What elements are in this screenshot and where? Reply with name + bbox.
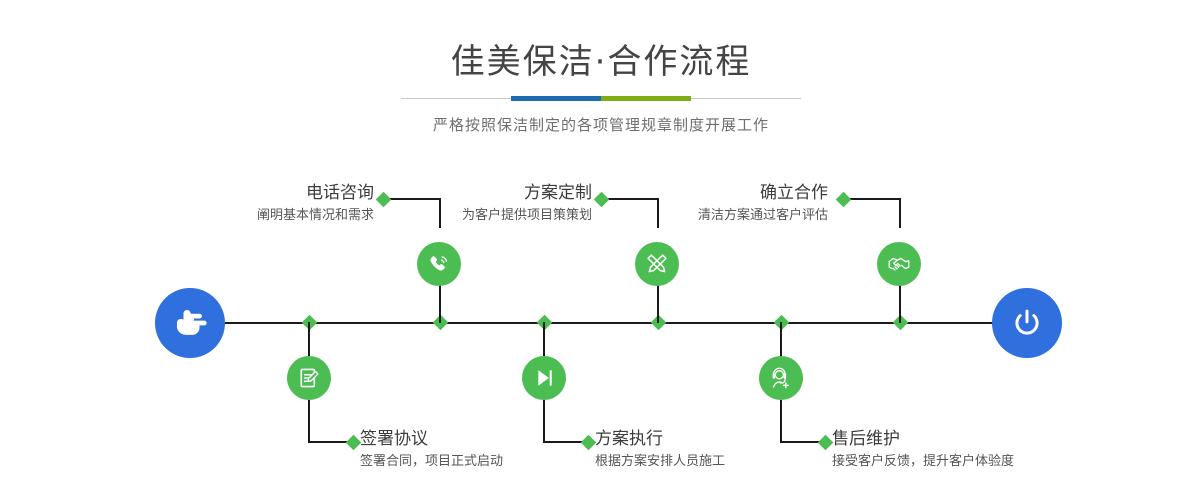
flow-step-title-6: 售后维护 — [832, 428, 1122, 450]
flow-label-marker-2 — [346, 435, 362, 451]
flow-connector-stem-6 — [780, 400, 782, 443]
page-header: 佳美保洁·合作流程 严格按照保洁制定的各项管理规章制度开展工作 — [0, 0, 1202, 135]
page-subtitle: 严格按照保洁制定的各项管理规章制度开展工作 — [0, 114, 1202, 135]
flow-step-label-3: 方案定制 为客户提供项目策策划 — [348, 182, 592, 226]
customer-support-icon — [768, 365, 794, 391]
flow-step-label-2: 签署协议 签署合同，项目正式启动 — [360, 428, 610, 472]
flow-connector-horizontal-5 — [847, 198, 901, 200]
flow-step-title-5: 确立合作 — [592, 182, 828, 204]
page-title: 佳美保洁·合作流程 — [0, 40, 1202, 84]
document-sign-icon — [296, 365, 322, 391]
flow-connector-vertical-2 — [308, 322, 310, 358]
flow-step-desc-6: 接受客户反馈，提升客户体验度 — [832, 452, 1122, 472]
power-icon — [1008, 304, 1046, 342]
title-divider — [401, 96, 801, 102]
flow-step-label-5: 确立合作 清洁方案通过客户评估 — [592, 182, 828, 226]
flow-step-icon-badge-2[interactable] — [287, 356, 331, 400]
flow-step-icon-badge-3[interactable] — [635, 242, 679, 286]
pencil-edit-icon — [644, 251, 670, 277]
flow-step-label-1: 电话咨询 阐明基本情况和需求 — [128, 182, 374, 226]
process-flow-diagram: 电话咨询 阐明基本情况和需求 签署协议 — [0, 160, 1202, 502]
flow-step-desc-3: 为客户提供项目策策划 — [348, 206, 592, 226]
timeline-axis — [160, 322, 1042, 324]
flow-step-title-3: 方案定制 — [348, 182, 592, 204]
flow-step-title-1: 电话咨询 — [128, 182, 374, 204]
pointing-hand-icon — [171, 304, 209, 342]
flow-step-title-4: 方案执行 — [595, 428, 845, 450]
flow-connector-vertical-6 — [780, 322, 782, 358]
flow-step-icon-badge-4[interactable] — [522, 356, 566, 400]
flow-connector-stem-2 — [308, 400, 310, 443]
flow-step-desc-1: 阐明基本情况和需求 — [128, 206, 374, 226]
phone-call-icon — [426, 251, 452, 277]
flow-step-label-6: 售后维护 接受客户反馈，提升客户体验度 — [832, 428, 1122, 472]
flow-connector-vertical-4 — [543, 322, 545, 358]
flow-connector-stem-4 — [543, 400, 545, 443]
flow-end-badge — [992, 288, 1062, 358]
divider-segment-green — [601, 96, 691, 101]
flow-step-desc-5: 清洁方案通过客户评估 — [592, 206, 828, 226]
flow-step-desc-2: 签署合同，项目正式启动 — [360, 452, 610, 472]
flow-step-title-2: 签署协议 — [360, 428, 610, 450]
flow-step-icon-badge-6[interactable] — [759, 356, 803, 400]
flow-connector-stem-5 — [899, 198, 901, 228]
play-skip-icon — [531, 365, 557, 391]
handshake-icon — [886, 251, 912, 277]
flow-step-icon-badge-1[interactable] — [417, 242, 461, 286]
flow-step-desc-4: 根据方案安排人员施工 — [595, 452, 845, 472]
flow-step-icon-badge-5[interactable] — [877, 242, 921, 286]
flow-label-marker-5 — [836, 192, 852, 208]
divider-segment-blue — [511, 96, 601, 101]
flow-start-badge — [155, 288, 225, 358]
flow-step-label-4: 方案执行 根据方案安排人员施工 — [595, 428, 845, 472]
page-root: 佳美保洁·合作流程 严格按照保洁制定的各项管理规章制度开展工作 — [0, 0, 1202, 502]
